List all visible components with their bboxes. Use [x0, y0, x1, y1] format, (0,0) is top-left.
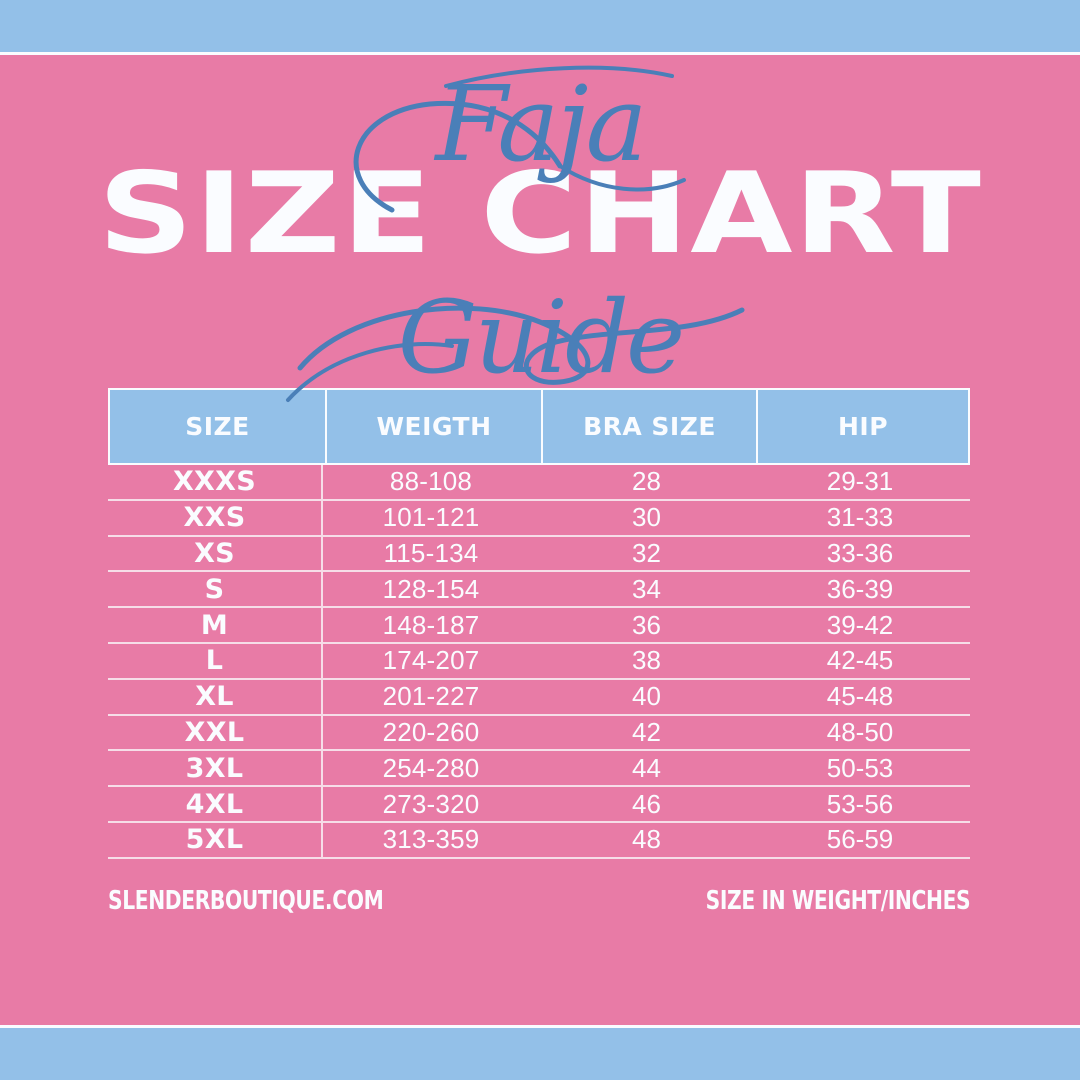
table-header-row: SIZE WEIGTH BRA SIZE HIP — [108, 388, 970, 465]
table-row: XXXS88-1082829-31 — [108, 465, 970, 501]
cell-weight-value: 115-134 — [323, 537, 539, 571]
cell-weight-value: 148-187 — [323, 608, 539, 642]
cell-size-value: L — [108, 644, 323, 678]
cell-weight-value: 273-320 — [323, 787, 539, 821]
cell-hip-value: 39-42 — [754, 608, 966, 642]
cell-size-value: XXL — [108, 716, 323, 750]
cell-hip-value: 56-59 — [754, 823, 966, 857]
table-row: S128-1543436-39 — [108, 572, 970, 608]
bottom-accent-band — [0, 1025, 1080, 1080]
cell-hip-value: 33-36 — [754, 537, 966, 571]
cell-bra-value: 38 — [539, 644, 754, 678]
cell-size-value: M — [108, 608, 323, 642]
table-row: XXL220-2604248-50 — [108, 716, 970, 752]
cell-hip-value: 29-31 — [754, 465, 966, 499]
table-row: 4XL273-3204653-56 — [108, 787, 970, 823]
cell-bra-value: 34 — [539, 572, 754, 606]
cell-hip-value: 50-53 — [754, 751, 966, 785]
cell-bra-value: 36 — [539, 608, 754, 642]
title-script-guide: Guide — [0, 288, 1080, 388]
cell-bra-value: 40 — [539, 680, 754, 714]
cell-size-value: 5XL — [108, 823, 323, 857]
cell-weight-value: 313-359 — [323, 823, 539, 857]
table-row: XL201-2274045-48 — [108, 680, 970, 716]
cell-weight-value: 220-260 — [323, 716, 539, 750]
footer: SLENDERBOUTIQUE.COM SIZE IN WEIGHT/INCHE… — [108, 886, 970, 916]
cell-weight-value: 101-121 — [323, 501, 539, 535]
cell-size-value: XXS — [108, 501, 323, 535]
cell-size-value: XL — [108, 680, 323, 714]
column-header-weight: WEIGTH — [325, 390, 541, 463]
cell-hip-value: 36-39 — [754, 572, 966, 606]
cell-weight-value: 174-207 — [323, 644, 539, 678]
cell-weight-value: 128-154 — [323, 572, 539, 606]
table-body: XXXS88-1082829-31XXS101-1213031-33XS115-… — [108, 465, 970, 859]
cell-weight-value: 254-280 — [323, 751, 539, 785]
cell-bra-value: 44 — [539, 751, 754, 785]
cell-bra-value: 32 — [539, 537, 754, 571]
cell-weight-value: 88-108 — [323, 465, 539, 499]
column-header-bra-size: BRA SIZE — [541, 390, 756, 463]
footer-units-note: SIZE IN WEIGHT/INCHES — [705, 886, 970, 916]
cell-size-value: 3XL — [108, 751, 323, 785]
cell-bra-value: 48 — [539, 823, 754, 857]
table-row: M148-1873639-42 — [108, 608, 970, 644]
cell-hip-value: 53-56 — [754, 787, 966, 821]
column-header-hip: HIP — [756, 390, 968, 463]
column-header-size: SIZE — [110, 390, 325, 463]
size-chart-table: SIZE WEIGTH BRA SIZE HIP XXXS88-1082829-… — [108, 388, 970, 859]
cell-size-value: 4XL — [108, 787, 323, 821]
cell-size-value: XXXS — [108, 465, 323, 499]
cell-hip-value: 45-48 — [754, 680, 966, 714]
cell-weight-value: 201-227 — [323, 680, 539, 714]
cell-hip-value: 31-33 — [754, 501, 966, 535]
cell-size-value: S — [108, 572, 323, 606]
table-row: XXS101-1213031-33 — [108, 501, 970, 537]
footer-website[interactable]: SLENDERBOUTIQUE.COM — [108, 886, 383, 916]
cell-hip-value: 48-50 — [754, 716, 966, 750]
cell-size-value: XS — [108, 537, 323, 571]
table-row: 3XL254-2804450-53 — [108, 751, 970, 787]
cell-hip-value: 42-45 — [754, 644, 966, 678]
title-block: Faja SIZE CHART Guide — [0, 60, 1080, 370]
cell-bra-value: 42 — [539, 716, 754, 750]
cell-bra-value: 46 — [539, 787, 754, 821]
title-script-faja: Faja — [0, 72, 1080, 176]
size-chart-poster: Faja SIZE CHART Guide SIZE WEIGTH BRA SI… — [0, 0, 1080, 1080]
cell-bra-value: 30 — [539, 501, 754, 535]
table-row: L174-2073842-45 — [108, 644, 970, 680]
top-accent-band — [0, 0, 1080, 55]
cell-bra-value: 28 — [539, 465, 754, 499]
table-row: XS115-1343233-36 — [108, 537, 970, 573]
table-row: 5XL313-3594856-59 — [108, 823, 970, 859]
